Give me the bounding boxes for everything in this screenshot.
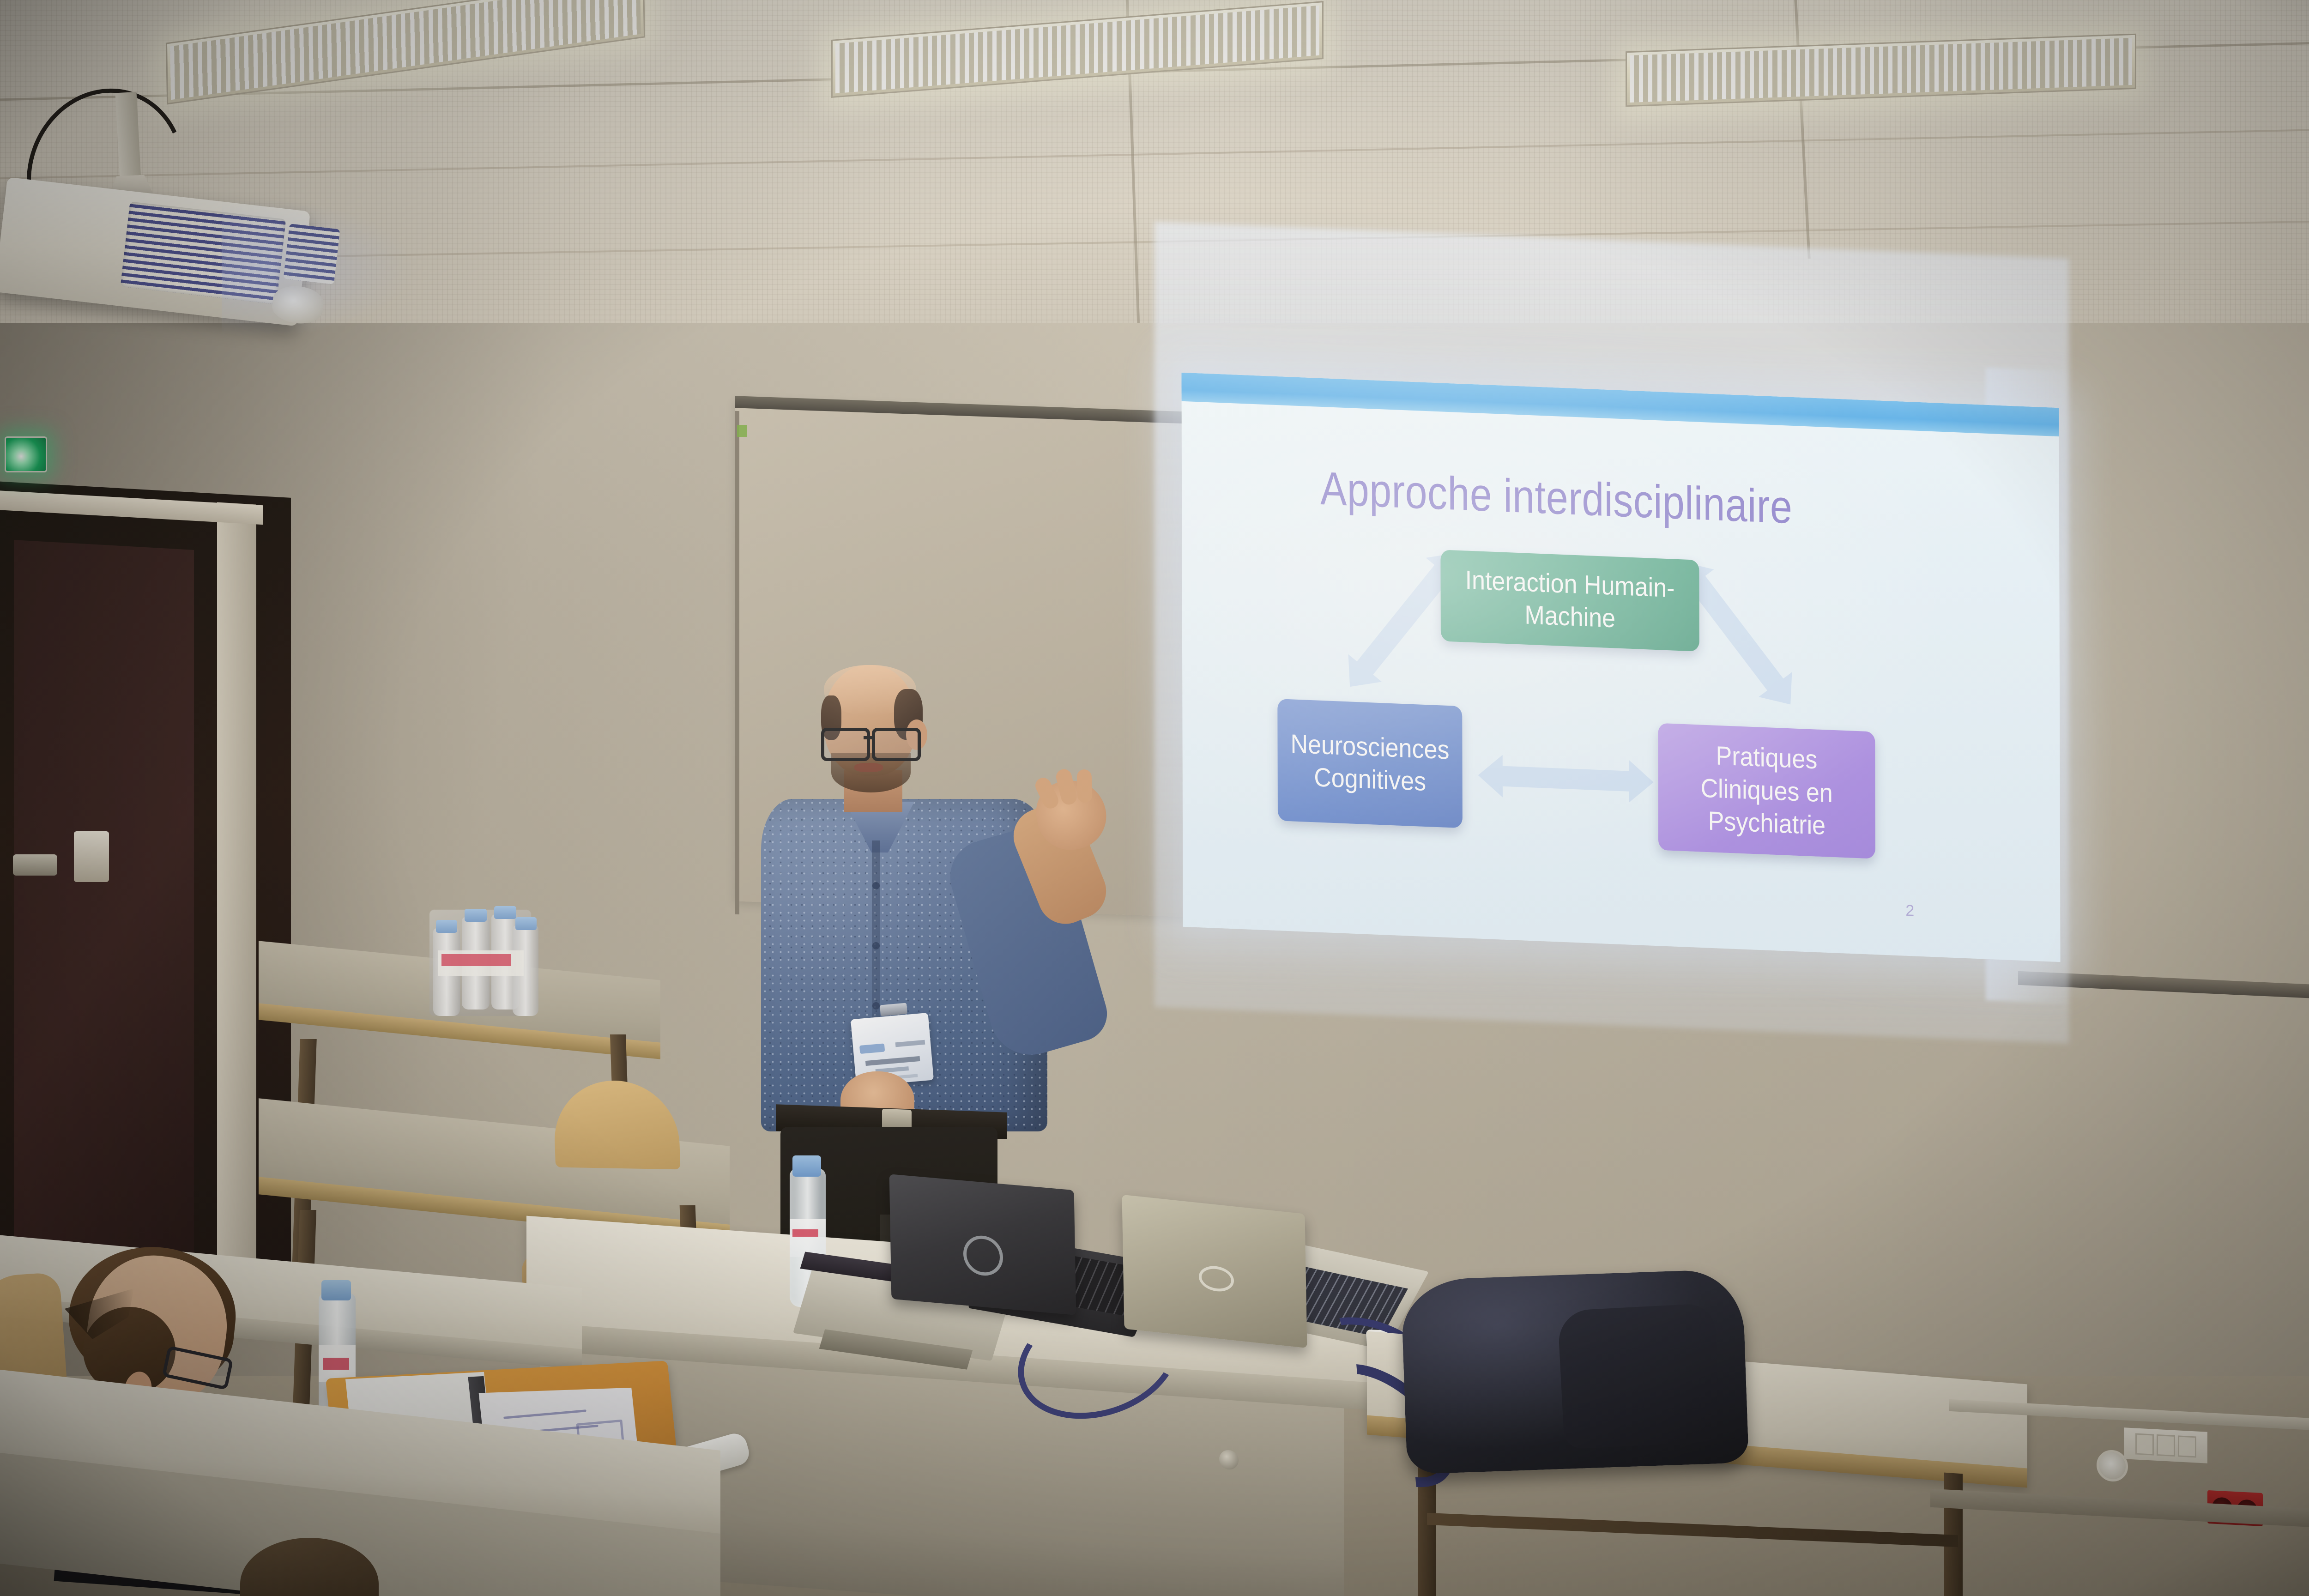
door-lock-icon <box>74 831 109 882</box>
bottle-label-brand <box>323 1358 349 1370</box>
shirt-button <box>872 882 880 889</box>
eyeglasses-icon <box>821 728 922 756</box>
diagram-node-pratiques-cliniques: Pratiques Cliniques en Psychiatrie <box>1658 723 1875 859</box>
diagram-node-interaction-humain-machine: Interaction Humain-Machine <box>1440 550 1699 652</box>
bottle-cap <box>792 1155 821 1177</box>
bottle-label <box>790 1219 826 1257</box>
bottle-label-brand <box>792 1229 818 1237</box>
presenter <box>785 665 1108 1265</box>
whiteboard-edge <box>735 411 739 914</box>
arrow-neurosciences-to-pratiques <box>1478 754 1654 804</box>
bottle-cap <box>494 906 516 919</box>
diagram-node-neurosciences-cognitives: Neurosciences Cognitives <box>1277 699 1463 828</box>
network-jack-panel[interactable] <box>2124 1427 2207 1463</box>
whiteboard-marker-clip <box>737 425 747 437</box>
slide-glare <box>1181 373 2060 962</box>
backpack-flap <box>1557 1303 1721 1449</box>
bottle-cap <box>465 909 487 922</box>
slide-number: 2 <box>1905 902 1914 920</box>
badge-clip <box>880 1003 907 1016</box>
bottle-cap <box>515 917 537 930</box>
emergency-exit-sign-icon <box>5 436 47 472</box>
bottle-cap <box>436 920 457 933</box>
badge-text-line <box>895 1040 925 1047</box>
door[interactable] <box>14 540 194 1270</box>
projector-beam-glow <box>222 199 416 337</box>
bottle-cap <box>321 1280 351 1300</box>
presenter-mouth <box>854 763 883 772</box>
bottle-label-brand <box>441 954 511 966</box>
badge-logo-icon <box>859 1043 885 1054</box>
shirt-button <box>872 1002 880 1010</box>
door-handle[interactable] <box>13 854 57 876</box>
projected-slide: Approche interdisciplinaire Interaction … <box>1181 373 2060 962</box>
network-jack[interactable] <box>2157 1434 2175 1457</box>
network-jack[interactable] <box>2135 1433 2154 1456</box>
shirt-button <box>872 942 880 949</box>
network-jack[interactable] <box>2178 1435 2196 1457</box>
door-frame <box>217 502 256 1285</box>
lecture-room-photo: Approche interdisciplinaire Interaction … <box>0 0 2309 1596</box>
badge-text-line <box>865 1056 920 1066</box>
slide-title: Approche interdisciplinaire <box>1320 462 1792 535</box>
